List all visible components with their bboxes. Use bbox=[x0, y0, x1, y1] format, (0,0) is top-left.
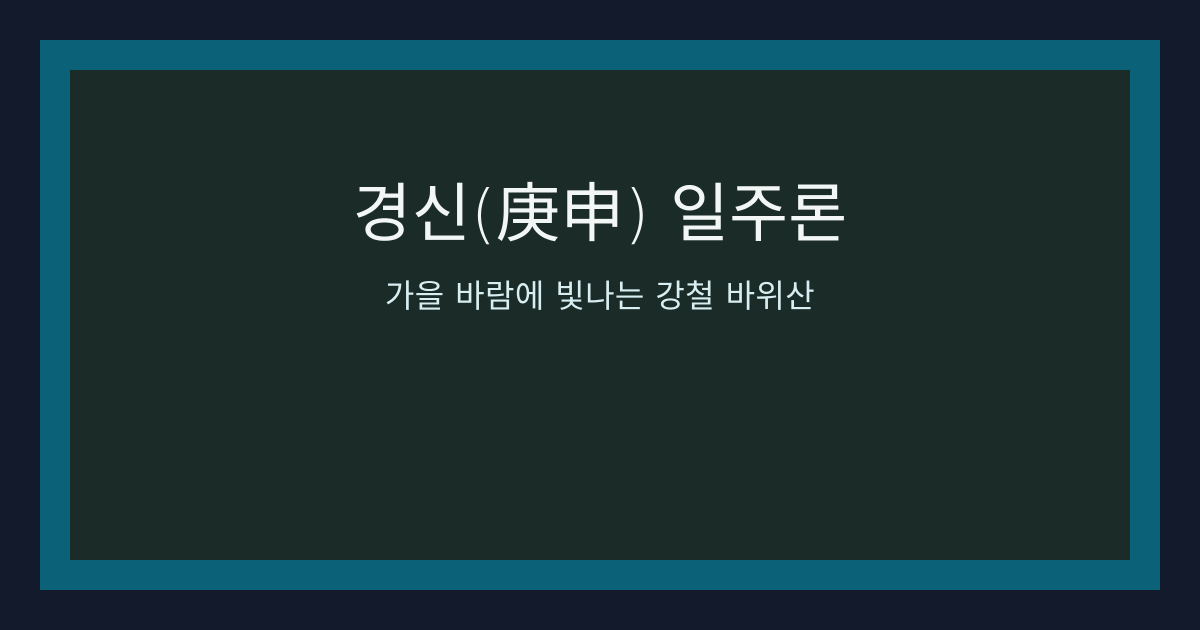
page-title: 경신(庚申) 일주론 bbox=[353, 178, 848, 254]
title-card: 경신(庚申) 일주론 가을 바람에 빛나는 강철 바위산 bbox=[0, 0, 1200, 630]
page-subtitle: 가을 바람에 빛나는 강철 바위산 bbox=[385, 276, 815, 318]
text-block: 경신(庚申) 일주론 가을 바람에 빛나는 강철 바위산 bbox=[70, 178, 1130, 317]
inner-content-panel: 경신(庚申) 일주론 가을 바람에 빛나는 강철 바위산 bbox=[70, 70, 1130, 560]
teal-border-frame: 경신(庚申) 일주론 가을 바람에 빛나는 강철 바위산 bbox=[40, 40, 1160, 590]
